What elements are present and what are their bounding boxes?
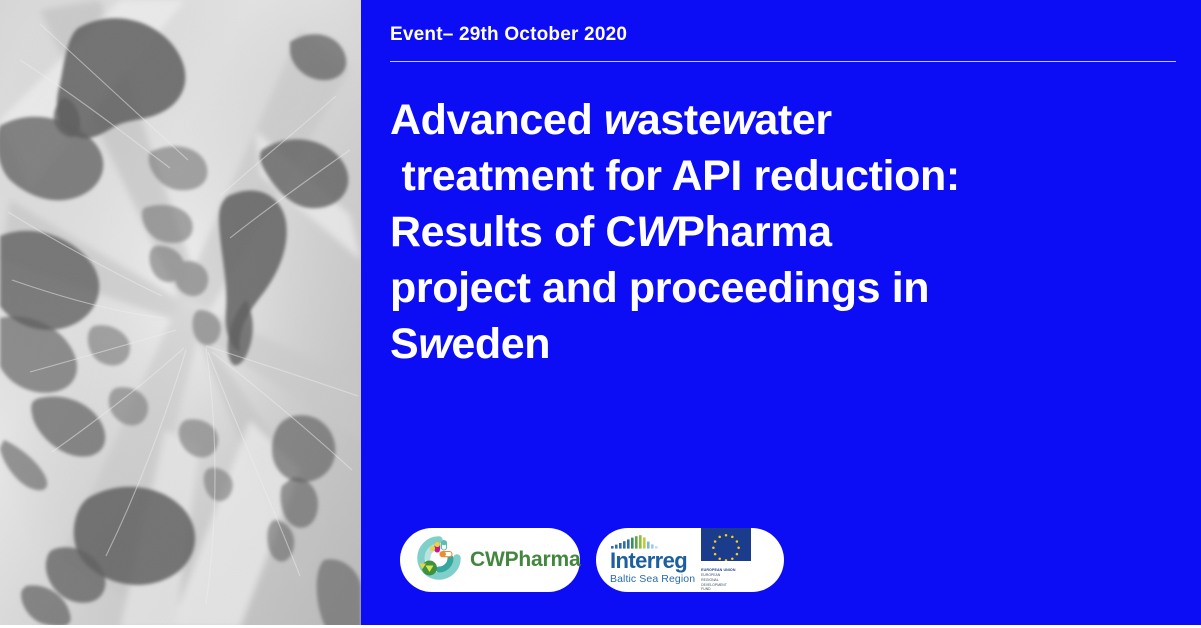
page-title-line-5: Sweden: [390, 316, 1030, 372]
event-date-label: Event– 29th October 2020: [390, 24, 627, 46]
eu-flag-icon: [701, 528, 751, 566]
event-banner: Event– 29th October 2020 Advanced wastew…: [0, 0, 1201, 628]
page-title-line-2: treatment for API reduction:: [390, 148, 1030, 204]
interreg-subtitle: Baltic Sea Region: [610, 574, 695, 585]
interreg-text-column: Interreg Baltic Sea Region: [610, 535, 695, 585]
cwpharma-badge[interactable]: CWPharma: [400, 528, 580, 592]
header-divider: [390, 61, 1176, 62]
cwpharma-wordmark: CWPharma: [470, 548, 580, 572]
eu-emblem-group: EUROPEAN UNION EUROPEAN REGIONAL DEVELOP…: [701, 528, 751, 591]
abstract-grayscale-image: [0, 0, 361, 628]
banner-photo: [0, 0, 361, 628]
eu-fund-label: EUROPEAN REGIONAL DEVELOPMENT FUND: [701, 573, 727, 591]
cwpharma-circular-pills-logo-icon: [416, 535, 462, 586]
page-title-line-4: project and proceedings in: [390, 260, 1030, 316]
page-title: Advanced wastewater treatment for API re…: [390, 92, 1030, 372]
page-title-line-1: Advanced wastewater: [390, 92, 1030, 148]
interreg-logo-group: Interreg Baltic Sea Region: [610, 528, 751, 591]
logo-badge-row: CWPharma: [400, 528, 784, 592]
interreg-badge[interactable]: Interreg Baltic Sea Region: [596, 528, 784, 592]
eu-union-label: EUROPEAN UNION: [701, 568, 735, 572]
interreg-wordmark: Interreg: [610, 550, 687, 572]
page-title-line-3: Results of CWPharma: [390, 204, 1030, 260]
